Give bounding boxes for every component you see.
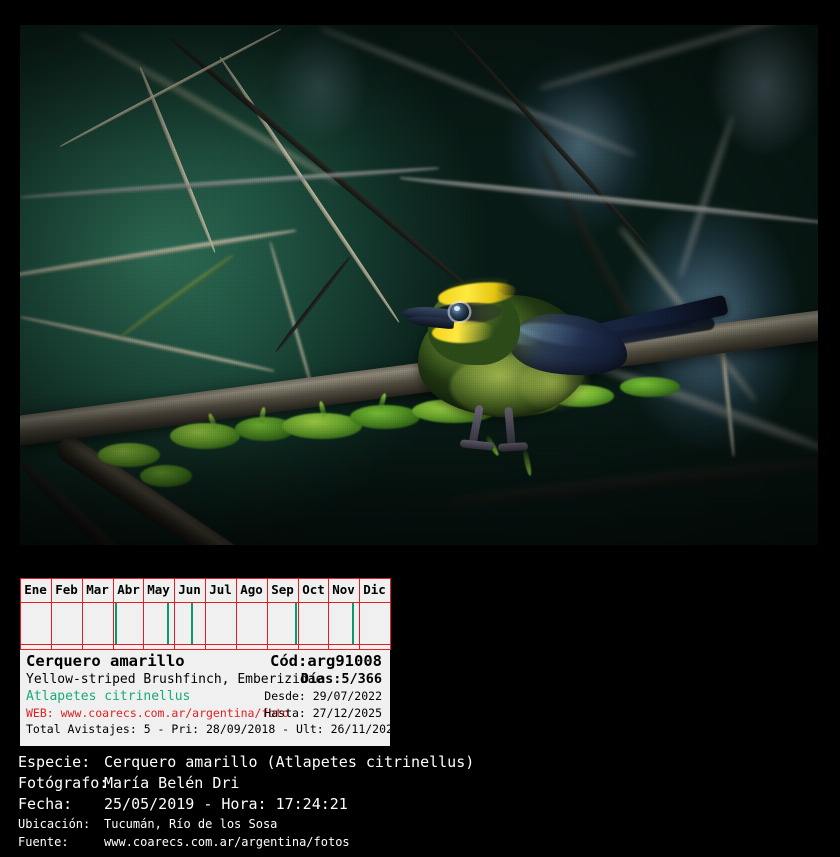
info-value: Tucumán, Río de los Sosa (104, 815, 277, 833)
panel-desde: Desde: 29/07/2022 (264, 688, 382, 705)
info-label: Ubicación: (0, 815, 104, 833)
info-value: 25/05/2019 - Hora: 17:24:21 (104, 794, 348, 815)
panel-web-link[interactable]: WEB: www.coarecs.com.ar/argentina/foto (26, 706, 289, 720)
calendar-month-ago: Ago (236, 580, 267, 600)
info-row: Fecha:25/05/2019 - Hora: 17:24:21 (0, 794, 840, 815)
panel-scientific-row: Atlapetes citrinellus Desde: 29/07/2022 (20, 688, 390, 705)
calendar-month-feb: Feb (51, 580, 82, 600)
info-label: Fotógrafo: (0, 773, 104, 794)
sighting-tick-nov (352, 603, 354, 644)
calendar-column-divider (390, 578, 391, 650)
photo-grain (20, 25, 818, 545)
calendar-month-jun: Jun (174, 580, 205, 600)
info-label: Especie: (0, 752, 104, 773)
calendar-month-dic: Dic (359, 580, 390, 600)
panel-total-sightings: Total Avistajes: 5 - Pri: 28/09/2018 - U… (20, 721, 390, 737)
sighting-tick-sep (295, 603, 297, 644)
panel-days: Días:5/366 (301, 671, 382, 688)
info-row: Fotógrafo:María Belén Dri (0, 773, 840, 794)
calendar-month-mar: Mar (82, 580, 113, 600)
panel-web-row: WEB: www.coarecs.com.ar/argentina/foto H… (20, 705, 390, 721)
sighting-tick-abr (115, 603, 117, 644)
calendar-month-oct: Oct (298, 580, 329, 600)
sighting-tick-may (167, 603, 169, 644)
panel-code: Cód:arg91008 (270, 652, 382, 671)
panel-english-family-row: Yellow-striped Brushfinch, Emberizidae D… (20, 671, 390, 688)
sighting-tick-jun (191, 603, 193, 644)
sightings-panel: EneFebMarAbrMayJunJulAgoSepOctNovDic Cer… (20, 578, 390, 746)
calendar-month-sep: Sep (267, 580, 298, 600)
panel-common-name: Cerquero amarillo (26, 652, 185, 670)
calendar-month-may: May (143, 580, 174, 600)
info-label: Fecha: (0, 794, 104, 815)
panel-english-family: Yellow-striped Brushfinch, Emberizidae (26, 672, 323, 687)
calendar-month-nov: Nov (328, 580, 359, 600)
info-row: Especie:Cerquero amarillo (Atlapetes cit… (0, 752, 840, 773)
calendar-month-abr: Abr (113, 580, 144, 600)
panel-title-row: Cerquero amarillo Cód:arg91008 (20, 652, 390, 671)
info-label: Fuente: (0, 833, 104, 851)
monthly-sightings-calendar: EneFebMarAbrMayJunJulAgoSepOctNovDic (20, 578, 390, 650)
info-value: www.coarecs.com.ar/argentina/fotos (104, 833, 350, 851)
calendar-month-jul: Jul (205, 580, 236, 600)
info-value: María Belén Dri (104, 773, 239, 794)
bird-photograph (20, 25, 818, 545)
photo-metadata-block: Especie:Cerquero amarillo (Atlapetes cit… (0, 752, 840, 857)
calendar-month-ene: Ene (20, 580, 51, 600)
info-value: Cerquero amarillo (Atlapetes citrinellus… (104, 752, 474, 773)
panel-hasta: Hasta: 27/12/2025 (264, 705, 382, 721)
info-row: Fuente:www.coarecs.com.ar/argentina/foto… (0, 833, 840, 851)
panel-scientific-name: Atlapetes citrinellus (26, 689, 190, 704)
info-row: Ubicación:Tucumán, Río de los Sosa (0, 815, 840, 833)
